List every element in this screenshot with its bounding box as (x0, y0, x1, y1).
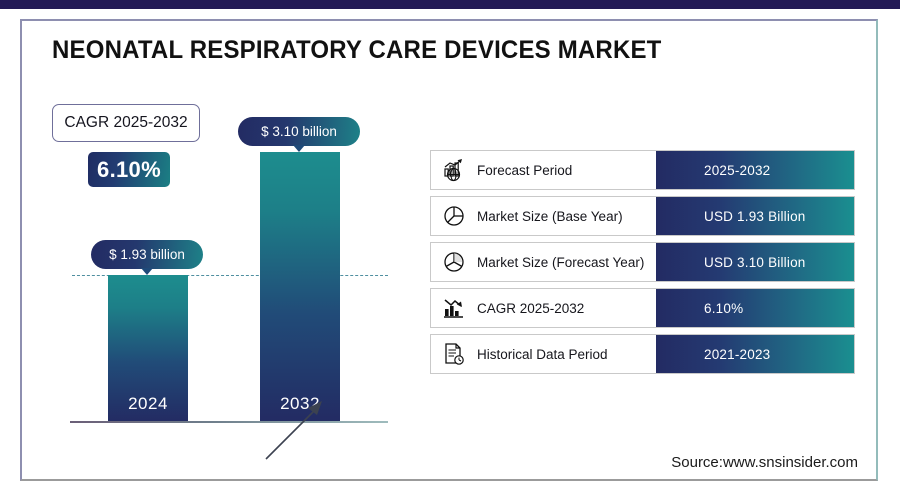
table-row-label: Forecast Period (477, 163, 572, 178)
table-row-label: Market Size (Base Year) (477, 209, 623, 224)
table-row: CAGR 2025-2032 6.10% (430, 288, 855, 328)
table-row-label: CAGR 2025-2032 (477, 301, 584, 316)
bar-category-label-2024: 2024 (108, 394, 188, 414)
bar-2032 (260, 152, 340, 422)
table-row-left: Historical Data Period (431, 335, 656, 373)
document-clock-icon (439, 339, 469, 369)
value-pill-2032-text: $ 3.10 billion (261, 124, 337, 139)
value-pill-2024-text: $ 1.93 billion (109, 247, 185, 262)
page-title: NEONATAL RESPIRATORY CARE DEVICES MARKET (52, 36, 662, 65)
table-row-left: Market Size (Base Year) (431, 197, 656, 235)
value-pill-2032: $ 3.10 billion (238, 117, 360, 146)
table-row: Market Size (Forecast Year) USD 3.10 Bil… (430, 242, 855, 282)
table-row-left: Forecast Period (431, 151, 656, 189)
table-row: Historical Data Period 2021-2023 (430, 334, 855, 374)
bar-chart: 2024 2032 (70, 110, 390, 428)
globe-growth-chart-icon (439, 155, 469, 185)
pie-chart-icon (439, 201, 469, 231)
table-row-value: 6.10% (656, 289, 854, 327)
source-text: Source:www.snsinsider.com (671, 454, 858, 471)
table-row-value: 2025-2032 (656, 151, 854, 189)
table-row-label: Historical Data Period (477, 347, 608, 362)
growth-arrow-icon (260, 395, 330, 465)
table-row: Market Size (Base Year) USD 1.93 Billion (430, 196, 855, 236)
table-row-value: USD 1.93 Billion (656, 197, 854, 235)
table-row: Forecast Period 2025-2032 (430, 150, 855, 190)
table-row-label: Market Size (Forecast Year) (477, 255, 644, 270)
table-row-left: Market Size (Forecast Year) (431, 243, 656, 281)
bar-chart-arrow-icon (439, 293, 469, 323)
value-pill-2024: $ 1.93 billion (91, 240, 203, 269)
top-accent-bar (0, 0, 900, 9)
chart-axis-line (70, 421, 388, 423)
table-row-value: 2021-2023 (656, 335, 854, 373)
pie-chart-segments-icon (439, 247, 469, 277)
table-row-left: CAGR 2025-2032 (431, 289, 656, 327)
infographic-page: NEONATAL RESPIRATORY CARE DEVICES MARKET… (0, 0, 900, 500)
summary-table: Forecast Period 2025-2032 Market Size (B… (430, 150, 855, 380)
table-row-value: USD 3.10 Billion (656, 243, 854, 281)
